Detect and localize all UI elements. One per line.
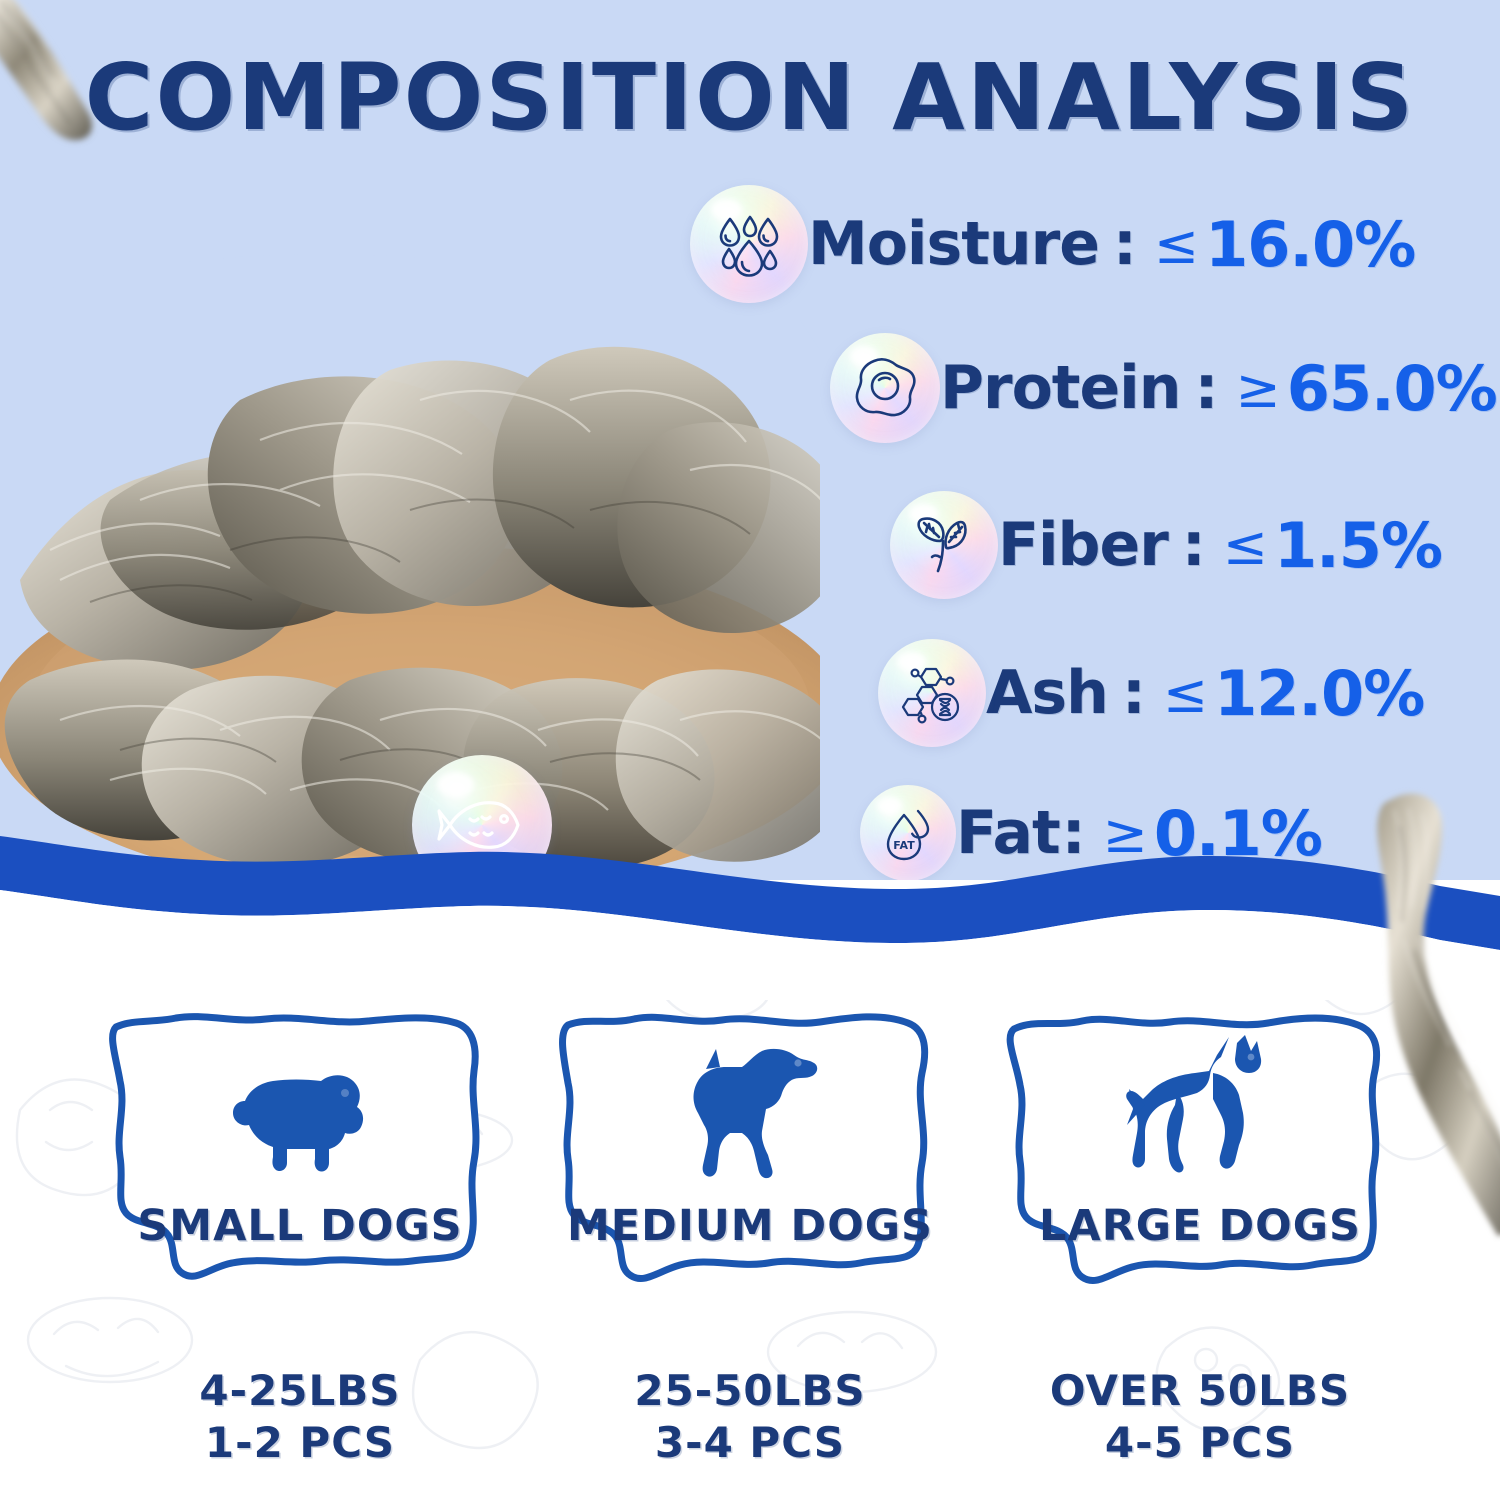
nutrition-row-ash: Ash : ≤ 12.0% [878, 639, 1424, 747]
fish-skin-twist-right [1330, 780, 1500, 1250]
nutrition-label-moisture: Moisture [808, 209, 1099, 279]
nutrition-separator: : [1180, 353, 1225, 423]
nutrition-operator-fiber: ≤ [1213, 514, 1274, 577]
leaf-plant-icon [890, 491, 998, 599]
card-meta-small: 4-25LBS 1-2 PCS [199, 1365, 400, 1469]
molecule-dna-icon [878, 639, 986, 747]
nutrition-list: Moisture : ≤ 16.0% Protein : ≥ 65.0% [690, 185, 1480, 875]
medium-dog-icon [550, 1033, 950, 1183]
nutrition-separator: : [1108, 658, 1153, 728]
card-frame-small: SMALL DOGS [100, 1005, 500, 1305]
nutrition-operator-protein: ≥ [1225, 357, 1286, 420]
feeding-card-small[interactable]: SMALL DOGS 4-25LBS 1-2 PCS [85, 1005, 515, 1469]
nutrition-operator-moisture: ≤ [1144, 213, 1205, 276]
card-meta-medium: 25-50LBS 3-4 PCS [634, 1365, 865, 1469]
fish-skin-twist-top-left [0, 0, 200, 200]
nutrition-value-protein: 65.0% [1287, 352, 1497, 425]
nutrition-value-fiber: 1.5% [1274, 509, 1442, 582]
nutrition-operator-ash: ≤ [1153, 662, 1214, 725]
composition-section: COMPOSITION ANALYSIS [0, 0, 1500, 900]
card-title-medium: MEDIUM DOGS [550, 1201, 950, 1251]
nutrition-label-ash: Ash [986, 658, 1108, 728]
card-pieces-small: 1-2 PCS [199, 1417, 400, 1469]
nutrition-label-protein: Protein [940, 353, 1180, 423]
card-meta-large: OVER 50LBS 4-5 PCS [1050, 1365, 1350, 1469]
nutrition-value-ash: 12.0% [1214, 657, 1424, 730]
card-weight-medium: 25-50LBS [634, 1365, 865, 1417]
infographic-page: COMPOSITION ANALYSIS [0, 0, 1500, 1500]
small-dog-icon [100, 1033, 500, 1183]
card-pieces-medium: 3-4 PCS [634, 1417, 865, 1469]
nutrition-separator: : [1168, 510, 1213, 580]
card-pieces-large: 4-5 PCS [1050, 1417, 1350, 1469]
feeding-guide-cards: SMALL DOGS 4-25LBS 1-2 PCS [0, 1005, 1500, 1469]
nutrition-value-moisture: 16.0% [1205, 208, 1415, 281]
nutrition-row-protein: Protein : ≥ 65.0% [830, 333, 1497, 443]
card-frame-medium: MEDIUM DOGS [550, 1005, 950, 1305]
page-title: COMPOSITION ANALYSIS [0, 44, 1500, 151]
feeding-card-medium[interactable]: MEDIUM DOGS 25-50LBS 3-4 PCS [535, 1005, 965, 1469]
wave-divider [0, 800, 1500, 1000]
nutrition-separator: : [1099, 209, 1144, 279]
card-title-small: SMALL DOGS [100, 1201, 500, 1251]
nutrition-row-fiber: Fiber : ≤ 1.5% [890, 491, 1442, 599]
nutrition-row-moisture: Moisture : ≤ 16.0% [690, 185, 1415, 303]
nutrition-label-fiber: Fiber [998, 510, 1168, 580]
card-weight-large: OVER 50LBS [1050, 1365, 1350, 1417]
fried-egg-icon [830, 333, 940, 443]
card-weight-small: 4-25LBS [199, 1365, 400, 1417]
water-drops-icon [690, 185, 808, 303]
